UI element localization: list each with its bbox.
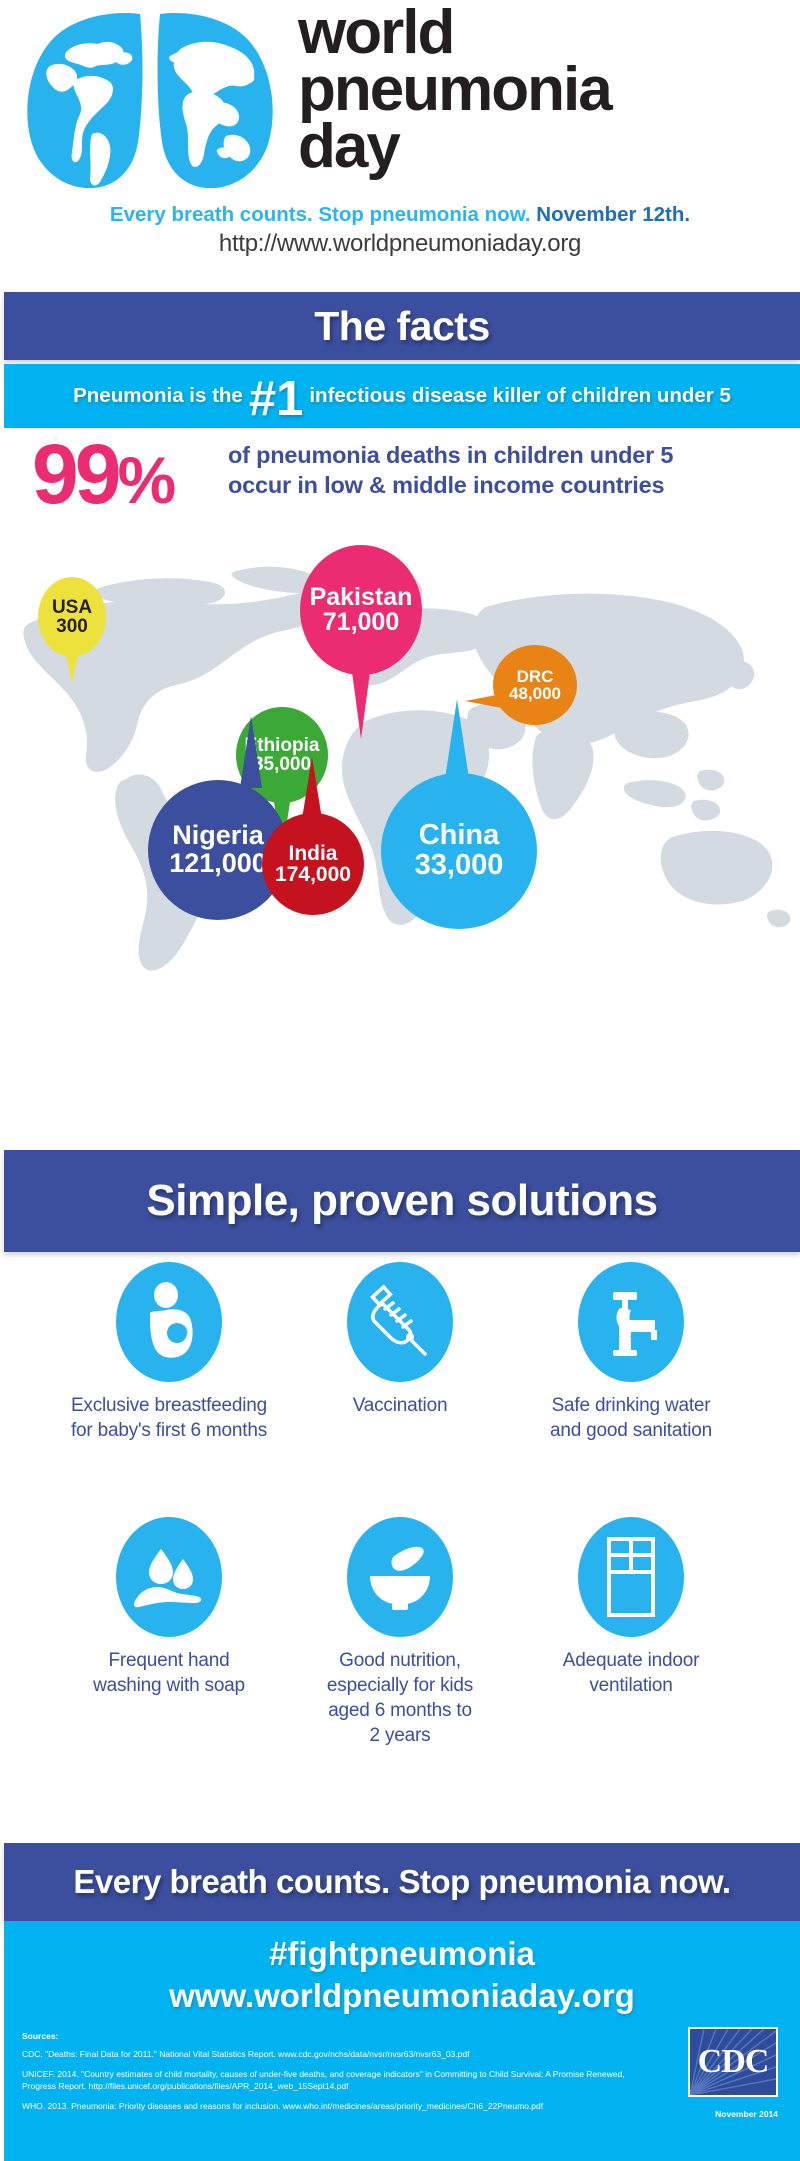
- footer-website[interactable]: www.worldpneumoniaday.org: [4, 1977, 800, 2015]
- header-tagline: Every breath counts. Stop pneumonia now.…: [0, 203, 800, 227]
- closing-banner: Every breath counts. Stop pneumonia now.: [4, 1843, 800, 1921]
- brand-line-2: pneumonia: [298, 61, 788, 118]
- syringe-icon: [347, 1262, 453, 1382]
- percent-figure: 99%: [32, 432, 173, 522]
- cdc-logo-text: CDC: [690, 2029, 776, 2095]
- solutions-grid: Exclusive breastfeeding for baby's first…: [0, 1262, 800, 1832]
- map-pin-india-name: China: [419, 821, 500, 851]
- percent-symbol: %: [117, 443, 173, 517]
- fact1-rank: #1: [243, 373, 310, 425]
- fact1-prefix: Pneumonia is the: [73, 384, 243, 408]
- map-pin-usa[interactable]: USA 300: [38, 577, 106, 681]
- fact-number-one-banner: Pneumonia is the #1 infectious disease k…: [4, 364, 800, 428]
- ninety-nine-percent-stat: 99% of pneumonia deaths in children unde…: [0, 440, 800, 520]
- solution-nutrition-label: Good nutrition, especially for kids aged…: [285, 1648, 515, 1748]
- closing-banner-title: Every breath counts. Stop pneumonia now.: [4, 1843, 800, 1921]
- window-icon: [578, 1517, 684, 1637]
- map-pin-pakistan-name: Pakistan: [310, 585, 413, 611]
- lungs-globe-logo: [14, 8, 290, 203]
- tagline-text: Every breath counts. Stop pneumonia now.: [110, 203, 531, 226]
- solutions-banner: Simple, proven solutions: [4, 1150, 800, 1252]
- sources-block: Sources: CDC. "Deaths: Final Data for 20…: [22, 2031, 642, 2119]
- solutions-banner-title: Simple, proven solutions: [4, 1150, 800, 1252]
- facts-banner-title: The facts: [4, 292, 800, 360]
- solution-safe-water-label: Safe drinking water and good sanitation: [516, 1393, 746, 1443]
- map-pin-china-name: DRC: [517, 668, 554, 685]
- footer: #fightpneumonia www.worldpneumoniaday.or…: [4, 1921, 800, 2161]
- percent-description-line-2: occur in low & middle income countries: [228, 470, 673, 500]
- solution-ventilation-label: Adequate indoor ventilation: [516, 1648, 746, 1698]
- map-pin-nigeria-name: Nigeria: [172, 822, 264, 850]
- solution-vaccination[interactable]: Vaccination: [285, 1262, 515, 1418]
- solution-breastfeeding-label: Exclusive breastfeeding for baby's first…: [54, 1393, 284, 1443]
- map-pin-usa-name: USA: [52, 598, 92, 617]
- header-url[interactable]: http://www.worldpneumoniaday.org: [0, 230, 800, 258]
- map-pin-drc[interactable]: India 174,000: [262, 755, 364, 917]
- infographic-page: world pneumonia day Every breath counts.…: [0, 0, 800, 2161]
- hashtag: #fightpneumonia: [4, 1935, 800, 1973]
- map-pin-india[interactable]: China 33,000: [381, 695, 537, 933]
- footer-date: November 2014: [715, 2109, 778, 2119]
- map-pin-nigeria-value: 121,000: [169, 850, 267, 878]
- solution-handwashing-label: Frequent hand washing with soap: [54, 1648, 284, 1698]
- solution-nutrition[interactable]: Good nutrition, especially for kids aged…: [285, 1517, 515, 1748]
- percent-description: of pneumonia deaths in children under 5 …: [228, 440, 673, 500]
- map-pin-india-value: 33,000: [415, 851, 504, 881]
- solution-safe-water[interactable]: Safe drinking water and good sanitation: [516, 1262, 746, 1443]
- faucet-icon: [578, 1262, 684, 1382]
- map-pin-usa-value: 300: [56, 617, 88, 636]
- breastfeeding-icon: [116, 1262, 222, 1382]
- source-item: CDC. "Deaths: Final Data for 2011." Nati…: [22, 2048, 642, 2061]
- solution-ventilation[interactable]: Adequate indoor ventilation: [516, 1517, 746, 1698]
- source-item: WHO. 2013. Pneumonia: Priority diseases …: [22, 2100, 642, 2113]
- percent-value: 99: [32, 427, 117, 521]
- bowl-spoon-icon: [347, 1517, 453, 1637]
- solution-vaccination-label: Vaccination: [285, 1393, 515, 1418]
- source-item: UNICEF. 2014. "Country estimates of chil…: [22, 2068, 642, 2093]
- brand-line-3: day: [298, 118, 788, 175]
- cdc-logo: CDC: [688, 2027, 778, 2097]
- map-pin-pakistan-value: 71,000: [323, 610, 399, 636]
- sources-heading: Sources:: [22, 2031, 642, 2041]
- solution-breastfeeding[interactable]: Exclusive breastfeeding for baby's first…: [54, 1262, 284, 1443]
- percent-description-line-1: of pneumonia deaths in children under 5: [228, 440, 673, 470]
- brand-wordmark: world pneumonia day: [298, 4, 788, 175]
- map-pin-drc-name: India: [288, 843, 337, 864]
- header: world pneumonia day Every breath counts.…: [0, 0, 800, 290]
- fact1-suffix: infectious disease killer of children un…: [309, 384, 731, 408]
- map-pin-drc-value: 174,000: [275, 864, 351, 885]
- handwashing-icon: [116, 1517, 222, 1637]
- world-map-chart: USA 300 Pakistan 71,000 DRC 48,000 Ethio…: [0, 545, 800, 1125]
- facts-banner: The facts: [4, 292, 800, 360]
- solution-handwashing[interactable]: Frequent hand washing with soap: [54, 1517, 284, 1698]
- tagline-date: November 12th.: [536, 203, 690, 226]
- brand-line-1: world: [298, 4, 788, 61]
